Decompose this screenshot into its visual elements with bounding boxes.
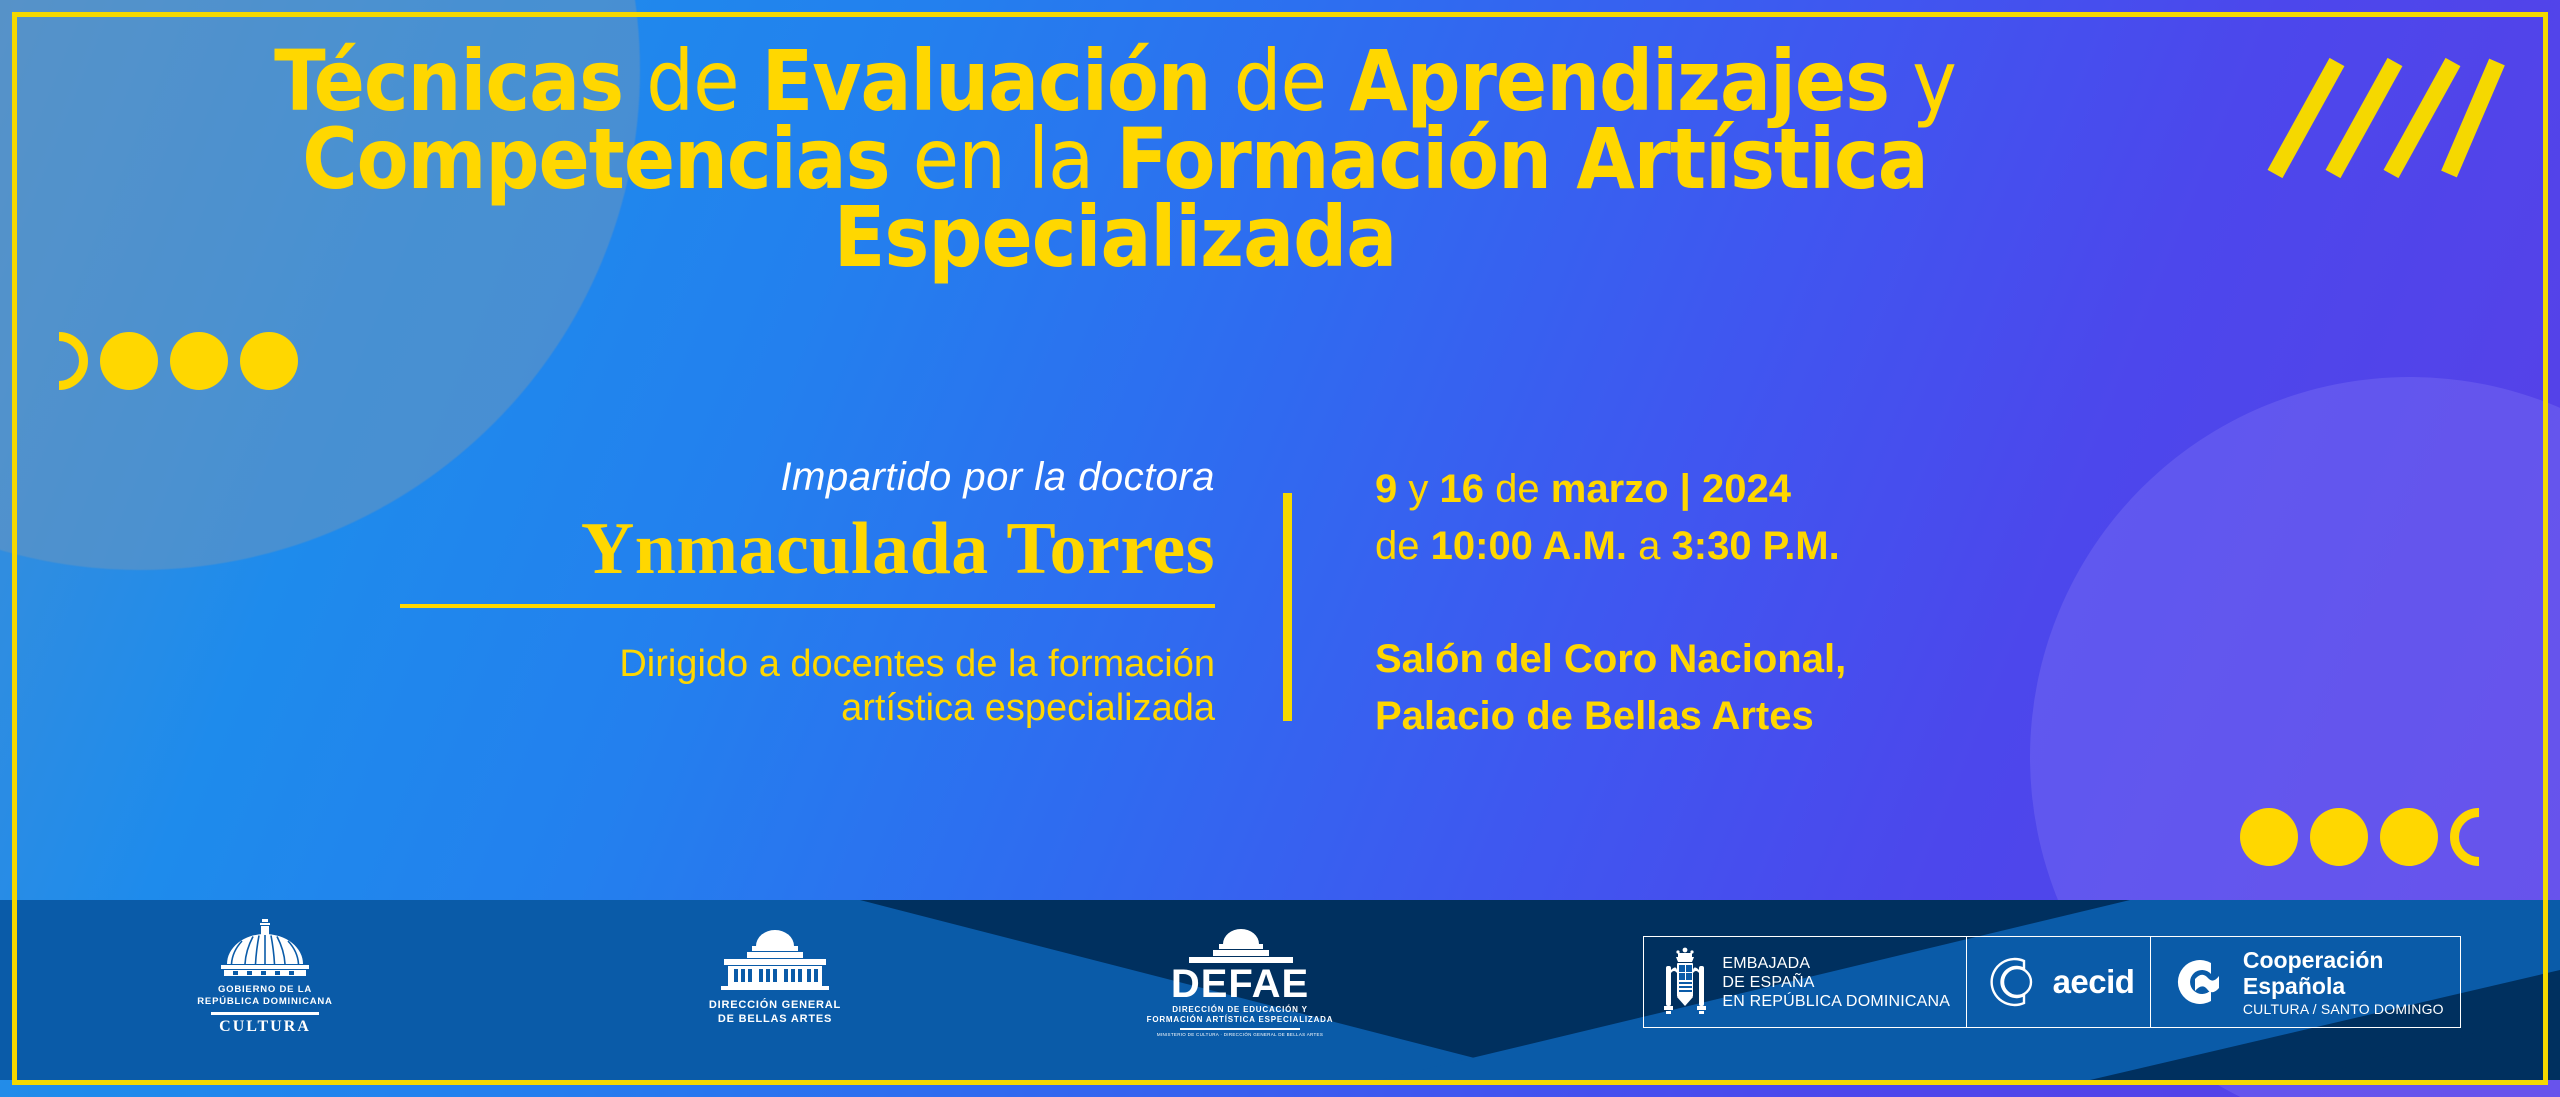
defae-wordmark: DEFAE [1171, 964, 1309, 1004]
embajada-caption: EMBAJADA DE ESPAÑA EN REPÚBLICA DOMINICA… [1722, 954, 1950, 1011]
audience-line-1: Dirigido a docentes de la formación [400, 642, 1215, 686]
cultura-wordmark: CULTURA [219, 1018, 311, 1036]
circle-icon [170, 332, 228, 390]
dome-building-icon [1175, 926, 1305, 964]
embajada-line-3: EN REPÚBLICA DOMINICANA [1722, 992, 1950, 1011]
circle-icon [100, 332, 158, 390]
time-start: 10:00 A.M. [1431, 524, 1627, 568]
event-details-column: 9 y 16 de marzo | 2024 de 10:00 A.M. a 3… [1375, 461, 2175, 745]
embajada-line-2: DE ESPAÑA [1722, 973, 1950, 992]
title-word-competencias: Competencias [302, 110, 889, 208]
dots-decoration-left [30, 332, 298, 390]
cultura-caption: GOBIERNO DE LA REPÚBLICA DOMINICANA [197, 984, 332, 1008]
aecid-circle-icon [1983, 953, 2041, 1011]
speaker-intro-label: Impartido por la doctora [400, 455, 1215, 500]
speaker-name-underline [400, 604, 1215, 608]
title-line-3: Especializada [0, 198, 2230, 276]
event-time: de 10:00 A.M. a 3:30 P.M. [1375, 518, 2175, 575]
title-word-especializada: Especializada [834, 188, 1396, 286]
dominican-dome-icon [217, 918, 313, 980]
logo-gobierno-cultura: GOBIERNO DE LA REPÚBLICA DOMINICANA CULT… [180, 918, 350, 1036]
logo-embajada-espana: EMBAJADA DE ESPAÑA EN REPÚBLICA DOMINICA… [1643, 936, 1967, 1028]
defae-divider [1180, 1028, 1300, 1030]
event-venue: Salón del Coro Nacional, Palacio de Bell… [1375, 631, 2175, 745]
date-day-1: 9 [1375, 467, 1397, 511]
spain-logo-boxes: EMBAJADA DE ESPAÑA EN REPÚBLICA DOMINICA… [1645, 936, 2461, 1028]
page-title: Técnicas de Evaluación de Aprendizajes y… [0, 42, 2230, 276]
spain-coat-of-arms-icon [1660, 944, 1710, 1020]
logo-aecid: aecid [1966, 936, 2152, 1028]
defae-line-2: FORMACIÓN ARTÍSTICA ESPECIALIZADA [1147, 1015, 1334, 1025]
logo-bellas-artes: DIRECCIÓN GENERAL DE BELLAS ARTES [660, 926, 890, 1026]
speaker-name: Ynmaculada Torres [400, 508, 1215, 590]
slash-icon [2275, 62, 2337, 174]
bellas-artes-line-1: DIRECCIÓN GENERAL [709, 998, 841, 1012]
circle-icon [2310, 808, 2368, 866]
diagonal-slashes-decoration [2265, 52, 2505, 182]
event-date: 9 y 16 de marzo | 2024 [1375, 461, 2175, 518]
aecid-wordmark: aecid [2053, 963, 2135, 1001]
time-end: 3:30 P.M. [1672, 524, 1840, 568]
venue-line-1: Salón del Coro Nacional, [1375, 631, 2175, 688]
circle-icon [240, 332, 298, 390]
footer-logo-bar: GOBIERNO DE LA REPÚBLICA DOMINICANA CULT… [0, 900, 2560, 1080]
date-day-2: 16 [1440, 467, 1485, 511]
venue-line-2: Palacio de Bellas Artes [1375, 688, 2175, 745]
footer-logos: GOBIERNO DE LA REPÚBLICA DOMINICANA CULT… [0, 900, 2560, 1080]
audience-description: Dirigido a docentes de la formación artí… [400, 642, 1215, 730]
cooperacion-caption: Cooperación Española CULTURA / SANTO DOM… [2243, 947, 2444, 1018]
cultura-line-2: REPÚBLICA DOMINICANA [197, 996, 332, 1008]
event-banner: Técnicas de Evaluación de Aprendizajes y… [0, 0, 2560, 1097]
time-prep-a: a [1638, 524, 1660, 568]
time-prep-de: de [1375, 524, 1420, 568]
defae-subcaption: MINISTERIO DE CULTURA · DIRECCIÓN GENERA… [1157, 1032, 1323, 1038]
audience-line-2: artística especializada [400, 686, 1215, 730]
title-line-2: Competencias en la Formación Artística [0, 120, 2230, 198]
content-area: Impartido por la doctora Ynmaculada Torr… [0, 455, 2560, 785]
embajada-line-1: EMBAJADA [1722, 954, 1950, 973]
cooperacion-line-1: Cooperación [2243, 947, 2444, 973]
bellas-artes-caption: DIRECCIÓN GENERAL DE BELLAS ARTES [709, 998, 841, 1026]
slash-icon [2391, 62, 2453, 174]
crescent-icon [30, 332, 88, 390]
title-line-1: Técnicas de Evaluación de Aprendizajes y [0, 42, 2230, 120]
dots-decoration-right [2240, 808, 2508, 866]
cooperacion-c-icon [2167, 951, 2229, 1013]
bellas-artes-line-2: DE BELLAS ARTES [709, 1012, 841, 1026]
cooperacion-line-2: Española [2243, 973, 2444, 999]
logo-defae: DEFAE DIRECCIÓN DE EDUCACIÓN Y FORMACIÓN… [1115, 926, 1365, 1038]
cooperacion-line-3: CULTURA / SANTO DOMINGO [2243, 1000, 2444, 1018]
vertical-divider [1283, 493, 1292, 721]
neoclassical-building-icon [716, 926, 834, 992]
cultura-divider [211, 1012, 319, 1015]
defae-caption: DIRECCIÓN DE EDUCACIÓN Y FORMACIÓN ARTÍS… [1147, 1005, 1334, 1025]
date-prep: de [1495, 467, 1540, 511]
cultura-line-1: GOBIERNO DE LA [197, 984, 332, 996]
circle-icon [2240, 808, 2298, 866]
slash-icon [2449, 62, 2497, 174]
date-month-year: marzo | 2024 [1551, 467, 1791, 511]
date-conj: y [1408, 467, 1428, 511]
slash-icon [2333, 62, 2395, 174]
speaker-column: Impartido por la doctora Ynmaculada Torr… [400, 455, 1215, 730]
crescent-icon [2450, 808, 2508, 866]
defae-line-1: DIRECCIÓN DE EDUCACIÓN Y [1147, 1005, 1334, 1015]
logo-cooperacion-espanola: Cooperación Española CULTURA / SANTO DOM… [2150, 936, 2461, 1028]
logo-spain-group: EMBAJADA DE ESPAÑA EN REPÚBLICA DOMINICA… [1645, 936, 2461, 1028]
circle-icon [2380, 808, 2438, 866]
